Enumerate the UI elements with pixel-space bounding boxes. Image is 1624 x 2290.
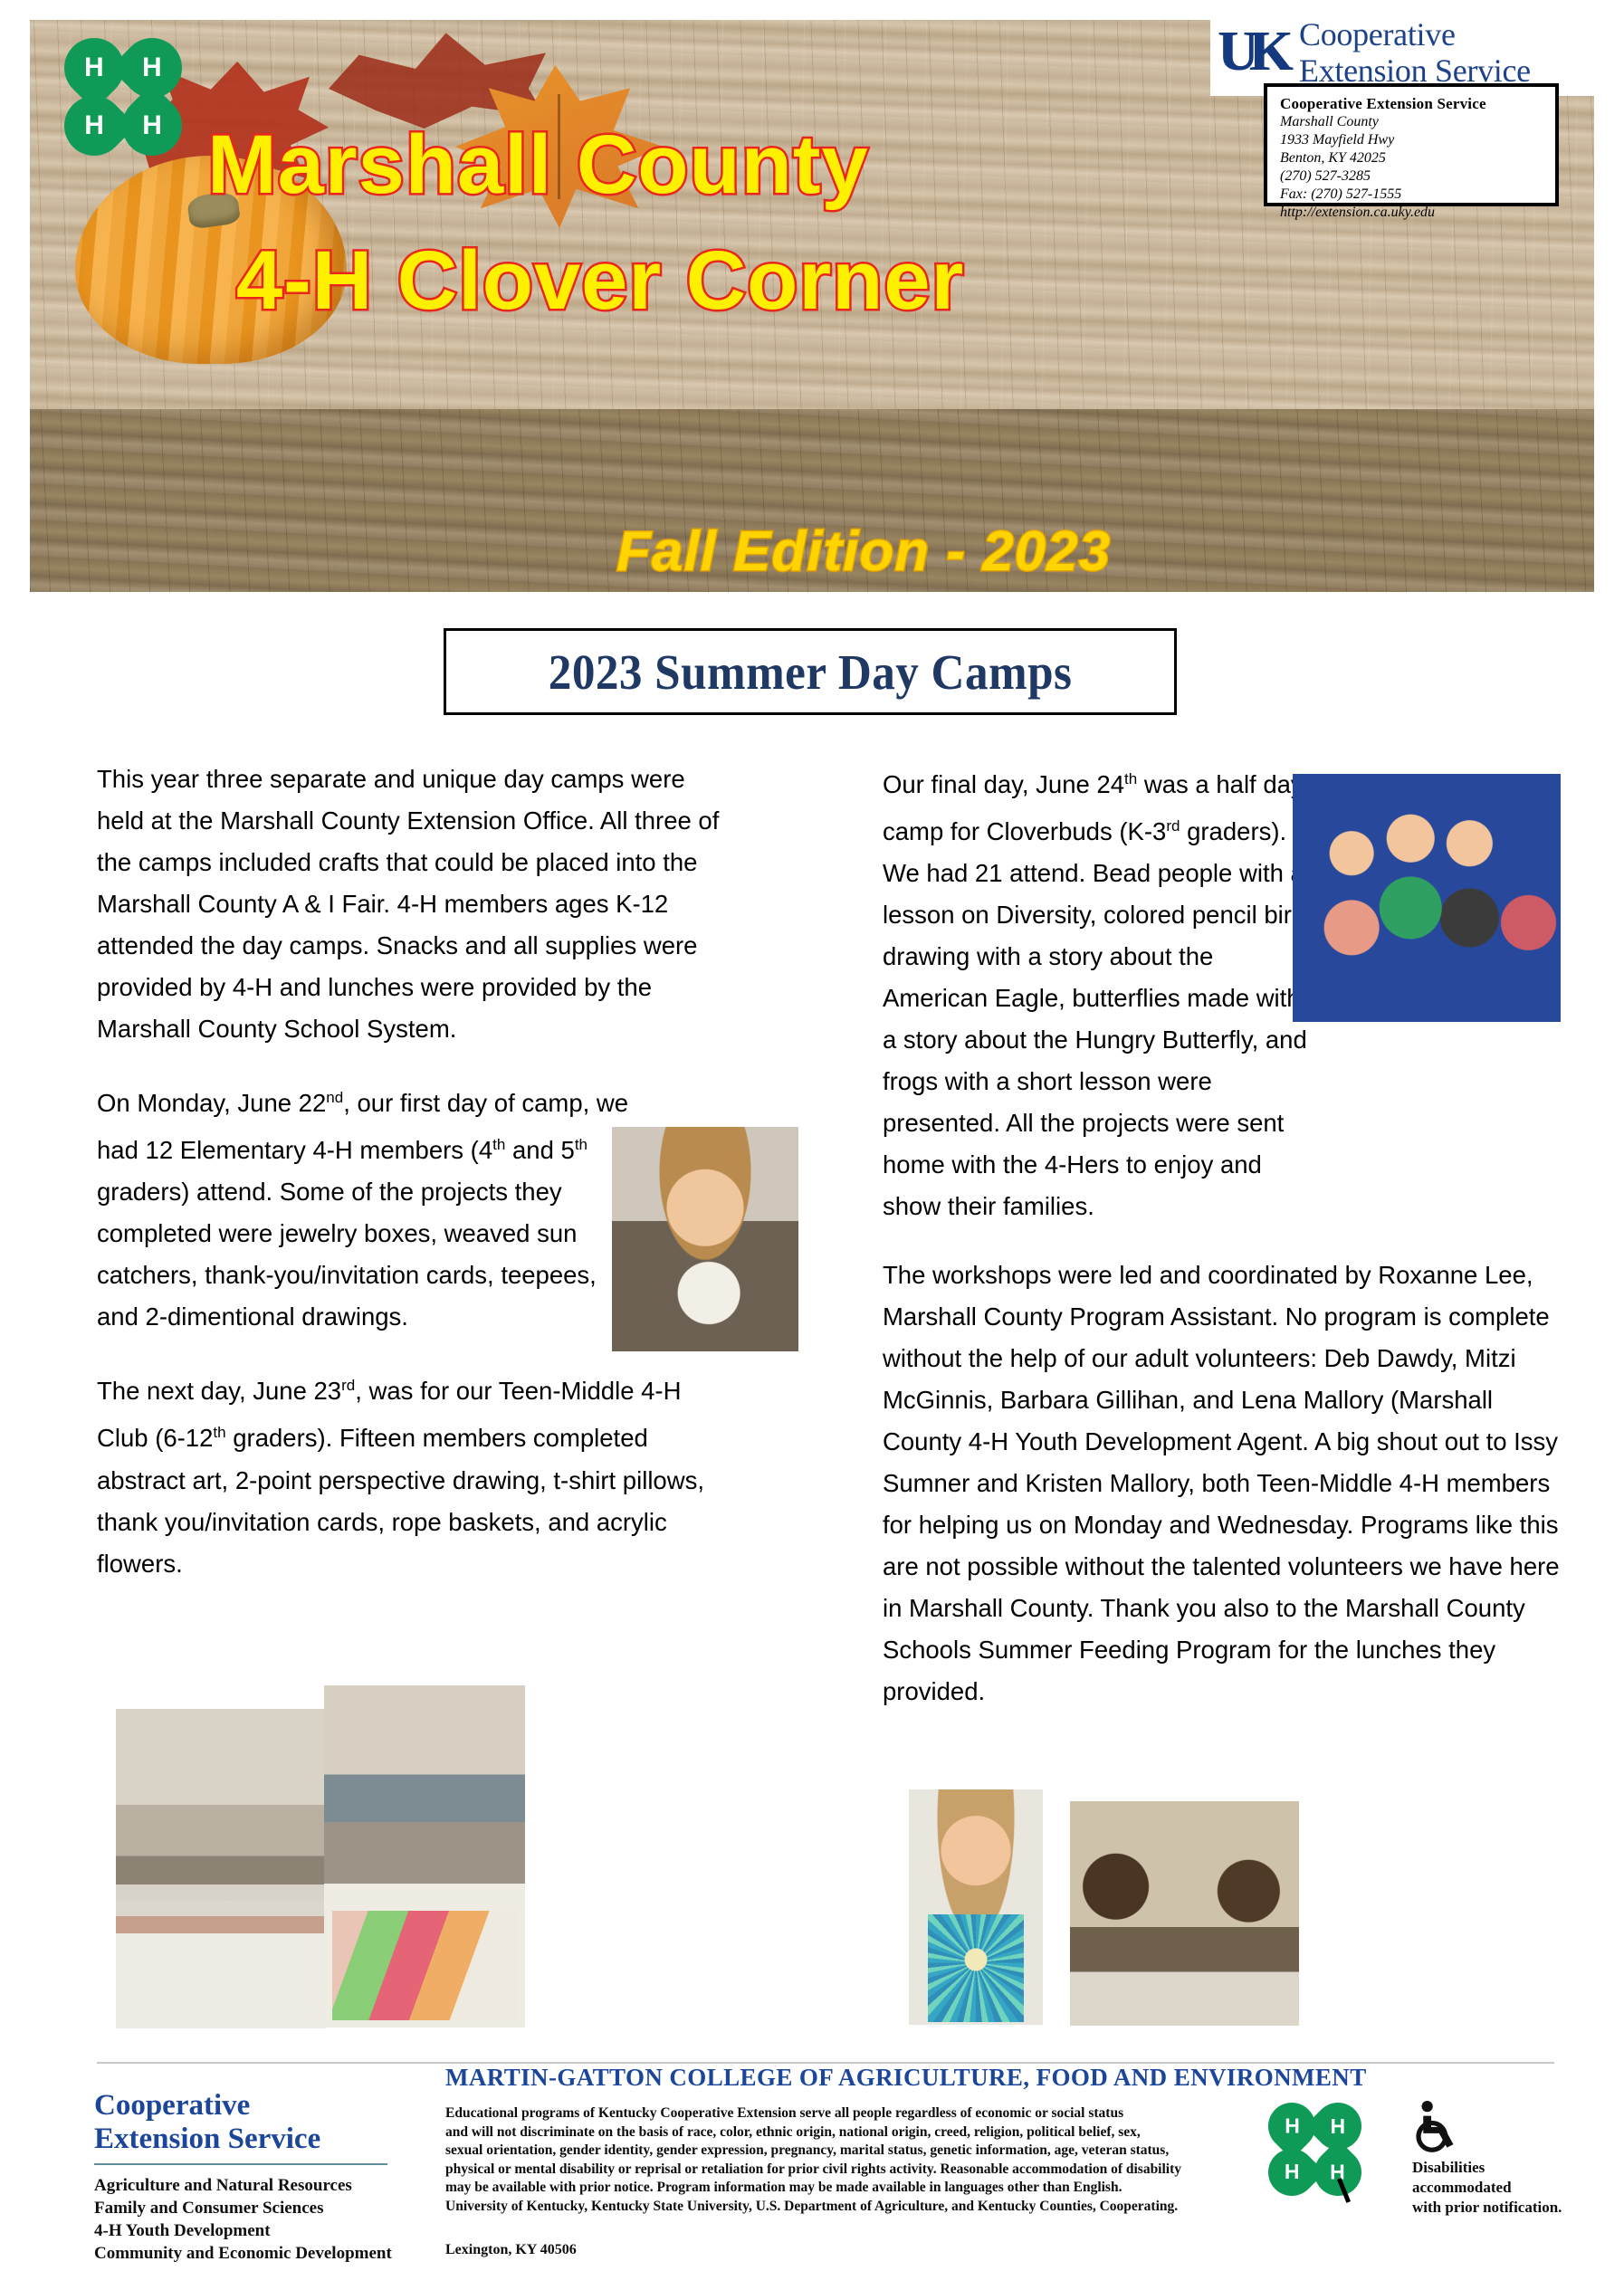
footer-lexington-address: Lexington, KY 40506	[445, 2242, 577, 2258]
paragraph-cloverbuds: Our final day, June 24th was a half day …	[883, 759, 1308, 1227]
address-url[interactable]: http://extension.ca.uky.edu	[1280, 204, 1555, 222]
photo-girl-with-jewelry-box	[612, 1127, 798, 1351]
uk-logo-line1: Cooperative	[1299, 16, 1531, 52]
clover-letter: H	[1331, 2114, 1346, 2139]
ordinal-suffix: th	[575, 1136, 588, 1153]
disclaimer-line: physical or mental disability or reprisa…	[445, 2161, 1251, 2180]
footer-program-anr: Agriculture and Natural Resources	[94, 2174, 420, 2197]
disclaimer-line: may be available with prior notice. Prog…	[445, 2179, 1251, 2198]
disclaimer-line: Educational programs of Kentucky Coopera…	[445, 2104, 1251, 2123]
footer-extension-branding: Cooperative Extension Service Agricultur…	[94, 2089, 420, 2265]
accessibility-notice: Disabilities accommodated with prior not…	[1412, 2100, 1602, 2218]
footer-four-h-clover-icon: H H H H	[1267, 2102, 1367, 2201]
clover-letter: H	[84, 52, 104, 83]
ordinal-suffix: rd	[341, 1377, 355, 1394]
para-text: graders). We had 21 attend. Bead people …	[883, 817, 1307, 1220]
accessibility-text: Disabilities accommodated with prior not…	[1412, 2158, 1602, 2218]
disclaimer-line: University of Kentucky, Kentucky State U…	[445, 2198, 1251, 2217]
paragraph-tuesday-camp: The next day, June 23rd, was for our Tee…	[97, 1365, 731, 1584]
para-text: and 5	[505, 1136, 574, 1164]
paragraph-intro: This year three separate and unique day …	[97, 759, 731, 1050]
clover-letter: H	[84, 110, 104, 141]
photo-boys-at-craft-table	[1070, 1801, 1299, 2026]
ordinal-suffix: nd	[326, 1089, 343, 1106]
clover-letter: H	[142, 110, 162, 141]
ordinal-suffix: rd	[1166, 817, 1180, 835]
footer-ces-line1: Cooperative	[94, 2089, 420, 2123]
four-h-clover-icon: H H H H	[62, 36, 189, 163]
para-text: graders) attend. Some of the projects th…	[97, 1178, 597, 1331]
wheelchair-accessible-icon	[1412, 2100, 1463, 2152]
address-county: Marshall County	[1280, 113, 1555, 131]
clover-letter: H	[1285, 2114, 1300, 2139]
address-fax: Fax: (270) 527-1555	[1280, 186, 1555, 204]
paragraph-acknowledgements: The workshops were led and coordinated b…	[883, 1255, 1560, 1713]
photo-girl-holding-drawing	[909, 1789, 1043, 2025]
section-heading-box: 2023 Summer Day Camps	[444, 628, 1177, 715]
clover-letter: H	[142, 52, 162, 83]
address-city: Benton, KY 42025	[1280, 149, 1555, 167]
accessibility-line: Disabilities	[1412, 2158, 1602, 2178]
ordinal-suffix: th	[492, 1136, 505, 1153]
disclaimer-line: sexual orientation, gender identity, gen…	[445, 2142, 1251, 2161]
footer-ces-line2: Extension Service	[94, 2123, 420, 2156]
address-title: Cooperative Extension Service	[1280, 94, 1555, 113]
nondiscrimination-disclaimer: Educational programs of Kentucky Coopera…	[445, 2104, 1251, 2216]
edition-label: Fall Edition - 2023	[616, 520, 1111, 584]
newsletter-title-line1: Marshall County	[207, 118, 869, 213]
office-address-block: Cooperative Extension Service Marshall C…	[1264, 83, 1559, 206]
college-name: MARTIN-GATTON COLLEGE OF AGRICULTURE, FO…	[445, 2064, 1367, 2092]
paragraph-monday-camp: On Monday, June 22nd, our first day of c…	[97, 1077, 640, 1338]
newsletter-title-line2: 4-H Clover Corner	[236, 234, 964, 329]
uk-logo-wordmark: Cooperative Extension Service	[1299, 16, 1531, 89]
photo-cloverbuds-group	[1293, 774, 1561, 1022]
footer-program-fcs: Family and Consumer Sciences	[94, 2197, 420, 2219]
address-phone: (270) 527-3285	[1280, 167, 1555, 186]
accessibility-line: accommodated	[1412, 2178, 1602, 2198]
uk-monogram-icon: UK	[1218, 18, 1292, 87]
accessibility-line: with prior notification.	[1412, 2198, 1602, 2218]
para-text: Our final day, June 24	[883, 770, 1124, 798]
para-text: The next day, June 23	[97, 1377, 341, 1405]
ordinal-suffix: th	[213, 1424, 225, 1441]
clover-letter: H	[1285, 2161, 1300, 2185]
photo-craft-table-volunteer	[324, 1685, 525, 2028]
para-text: On Monday, June 22	[97, 1089, 326, 1117]
footer-program-4h: 4-H Youth Development	[94, 2219, 420, 2242]
address-street: 1933 Mayfield Hwy	[1280, 131, 1555, 149]
footer-brand-rule	[94, 2163, 387, 2165]
section-heading: 2023 Summer Day Camps	[549, 644, 1073, 701]
ordinal-suffix: th	[1124, 770, 1137, 787]
disclaimer-line: and will not discriminate on the basis o…	[445, 2123, 1251, 2142]
footer-program-ced: Community and Economic Development	[94, 2242, 420, 2265]
photo-craft-table-elementary	[116, 1709, 326, 2028]
